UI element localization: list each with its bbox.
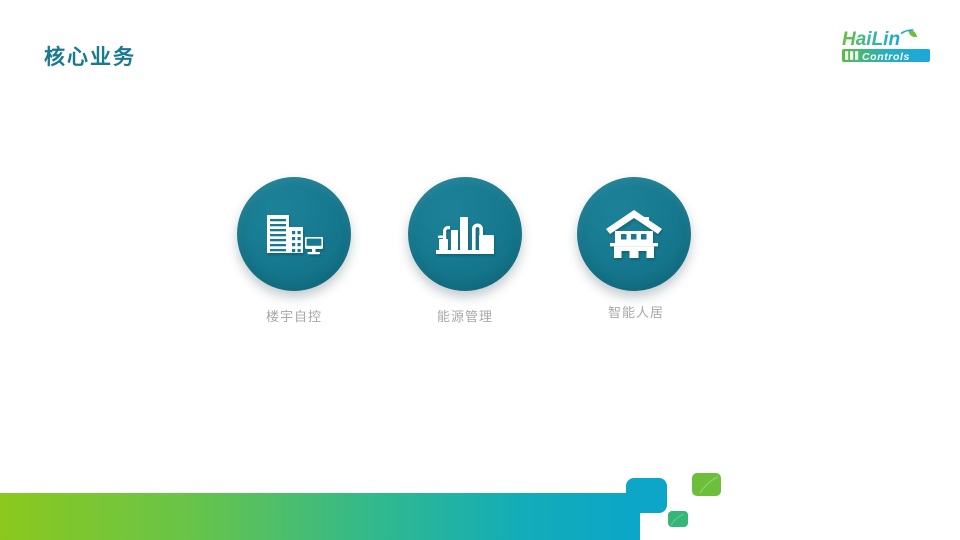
card-icon-circle bbox=[408, 177, 522, 291]
hailin-controls-logo: HaiLin Controls bbox=[838, 28, 934, 66]
card-label: 能源管理 bbox=[395, 306, 535, 325]
card-smart-living[interactable]: 智能人居 bbox=[564, 176, 704, 336]
industrial-plant-icon bbox=[434, 207, 496, 261]
card-label: 楼宇自控 bbox=[224, 306, 364, 325]
slide-canvas: 核心业务 HaiLin bbox=[0, 0, 960, 540]
banner-step-block bbox=[626, 478, 667, 540]
banner-gradient-bar bbox=[0, 493, 637, 540]
svg-text:Controls: Controls bbox=[862, 51, 910, 63]
card-building-automation[interactable]: 楼宇自控 bbox=[224, 176, 364, 336]
card-icon-circle bbox=[577, 177, 691, 291]
house-home-icon bbox=[604, 208, 664, 260]
card-energy-management[interactable]: 能源管理 bbox=[395, 176, 535, 336]
page-title: 核心业务 bbox=[44, 41, 136, 71]
card-icon-circle bbox=[237, 177, 351, 291]
banner-leaf-small bbox=[668, 511, 688, 527]
card-label: 智能人居 bbox=[566, 302, 706, 321]
svg-text:HaiLin: HaiLin bbox=[842, 29, 900, 50]
banner-leaf-large bbox=[692, 473, 721, 496]
office-buildings-monitor-icon bbox=[263, 207, 325, 261]
core-business-cards: 楼宇自控 bbox=[0, 176, 960, 336]
bottom-decoration-banner bbox=[0, 460, 960, 540]
